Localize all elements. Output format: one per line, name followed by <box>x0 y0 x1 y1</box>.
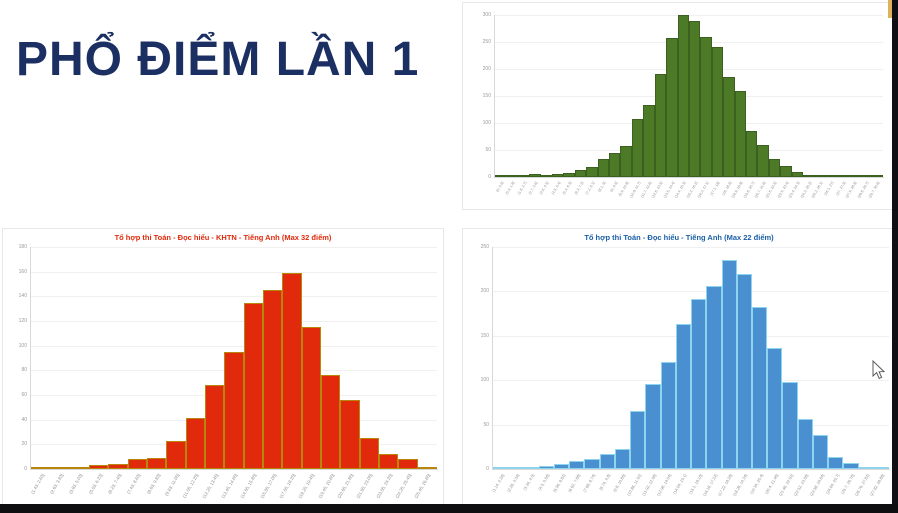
bar[interactable] <box>418 467 437 469</box>
y-axis-tick-label: 150 <box>465 93 491 99</box>
mouse-cursor <box>872 360 886 380</box>
bar[interactable] <box>340 400 359 469</box>
y-axis-tick-label: 100 <box>465 120 491 126</box>
bar[interactable] <box>89 465 108 469</box>
bar[interactable] <box>828 457 843 469</box>
y-axis-tick-label: 80 <box>2 367 27 373</box>
x-axis-line <box>494 177 884 178</box>
bar[interactable] <box>620 146 631 177</box>
bar[interactable] <box>615 449 630 469</box>
y-axis-tick-label: 20 <box>2 441 27 447</box>
bar[interactable] <box>722 260 737 469</box>
x-axis-line <box>492 469 890 470</box>
bar[interactable] <box>586 167 597 177</box>
screen-edge-highlight <box>888 0 892 18</box>
y-axis-tick-label: 0 <box>463 466 489 472</box>
bar[interactable] <box>746 131 757 177</box>
x-axis-tick-label: (8.63, 9.83] <box>146 473 161 495</box>
y-axis-tick-label: 160 <box>2 269 27 275</box>
bar[interactable] <box>539 466 554 469</box>
x-axis-tick-label: (6.3, 7.2] <box>573 181 584 195</box>
y-axis-tick-label: 100 <box>2 343 27 349</box>
x-axis-tick-label: (0, 0.9] <box>495 181 504 193</box>
bar[interactable] <box>676 324 691 469</box>
bar[interactable] <box>630 411 645 469</box>
bar[interactable] <box>166 441 185 469</box>
x-axis-tick-label: (18, 18.9] <box>721 181 732 196</box>
y-axis-tick-label: 60 <box>2 392 27 398</box>
bar[interactable] <box>689 21 700 177</box>
x-axis-tick-label: (4.5, 5.4] <box>551 181 562 195</box>
x-axis-tick-label: (4.5, 5.56] <box>537 473 550 491</box>
bar[interactable] <box>523 467 538 469</box>
bar[interactable] <box>723 77 734 177</box>
y-axis-tick-label: 150 <box>463 333 489 339</box>
bar[interactable] <box>554 464 569 469</box>
bar[interactable] <box>569 461 584 469</box>
bar[interactable] <box>752 307 767 470</box>
bar[interactable] <box>735 91 746 177</box>
bar[interactable] <box>263 290 282 469</box>
bar[interactable] <box>843 463 858 469</box>
chart-panel-blue[interactable]: Tổ hợp thi Toán - Đọc hiểu - Tiếng Anh (… <box>462 228 896 510</box>
bar[interactable] <box>691 299 706 469</box>
plot-area-green: 050100150200250300(0, 0.9](0.9, 1.8](1.8… <box>495 15 883 177</box>
screen-edge-right <box>892 0 898 513</box>
bar[interactable] <box>609 153 620 177</box>
bar[interactable] <box>645 384 660 469</box>
x-axis-tick-label: (0.9, 1.8] <box>505 181 516 195</box>
bar[interactable] <box>782 382 797 469</box>
bar[interactable] <box>147 458 166 469</box>
bar[interactable] <box>186 418 205 469</box>
x-axis-tick-label: (6.62, 7.68] <box>567 473 581 493</box>
page-title: PHỔ ĐIỂM LẦN 1 <box>16 32 419 87</box>
x-axis-line <box>30 469 438 470</box>
plot-area-red: 020406080100120140160180(1.43, 2.63](2.6… <box>31 247 437 469</box>
bar[interactable] <box>529 174 540 177</box>
bar[interactable] <box>661 362 676 469</box>
x-axis-tick-label: (5.4, 6.3] <box>562 181 573 195</box>
x-axis-tick-label: (3.6, 4.5] <box>539 181 550 195</box>
bar[interactable] <box>360 438 379 469</box>
bar[interactable] <box>706 286 721 469</box>
bar[interactable] <box>813 435 828 469</box>
bar[interactable] <box>860 175 871 177</box>
bar[interactable] <box>598 159 609 177</box>
bar[interactable] <box>737 274 752 469</box>
y-axis-tick-label: 180 <box>2 244 27 250</box>
bar[interactable] <box>803 175 814 177</box>
x-axis-tick-label: (3.34, 4.5] <box>522 473 535 491</box>
x-axis-tick-label: (8.74, 9.8] <box>598 473 611 491</box>
chart-panel-red[interactable]: Tổ hợp thi Toán - Đọc hiểu - KHTN - Tiến… <box>2 228 444 510</box>
bar[interactable] <box>108 464 127 469</box>
x-axis-tick-label: (9.8, 10.86] <box>612 473 626 493</box>
bar[interactable] <box>859 467 874 469</box>
bar[interactable] <box>541 175 552 177</box>
bar[interactable] <box>508 467 523 469</box>
x-axis-tick-label: (1.8, 2.7] <box>516 181 527 195</box>
x-axis-labels: (0, 0.9](0.9, 1.8](1.8, 2.7](2.7, 3.6](3… <box>495 180 883 210</box>
y-axis-tick-label: 0 <box>465 174 491 180</box>
screen-edge-bottom <box>0 504 898 513</box>
bar[interactable] <box>506 175 517 177</box>
y-axis-tick-label: 200 <box>465 66 491 72</box>
x-axis-tick-label: (9.9, 10.8] <box>618 181 630 197</box>
chart-title-blue: Tổ hợp thi Toán - Đọc hiểu - Tiếng Anh (… <box>463 233 895 242</box>
bar[interactable] <box>767 348 782 469</box>
x-axis-tick-label: (9, 9.9] <box>609 181 618 193</box>
y-axis-tick-label: 250 <box>465 39 491 45</box>
bar[interactable] <box>31 467 50 469</box>
x-axis-tick-label: (17.1, 18] <box>710 181 721 196</box>
bar[interactable] <box>826 175 837 177</box>
bar[interactable] <box>584 459 599 469</box>
bar[interactable] <box>495 175 506 177</box>
bar[interactable] <box>678 15 689 177</box>
y-axis-tick-label: 120 <box>2 318 27 324</box>
bar[interactable] <box>655 74 666 177</box>
x-axis-tick-label: (9.83, 11.05] <box>164 473 180 497</box>
bar[interactable] <box>769 159 780 177</box>
bar[interactable] <box>632 119 643 177</box>
bar[interactable] <box>379 454 398 469</box>
x-axis-tick-label: (5.03, 6.23] <box>88 473 103 495</box>
y-axis-tick-label: 140 <box>2 293 27 299</box>
bar[interactable] <box>50 467 69 469</box>
plot-area-blue: 050100150200250(1.14, 2.28](2.28, 3.34](… <box>493 247 889 469</box>
x-axis-tick-label: (7.43, 8.63] <box>126 473 141 495</box>
y-axis-tick-label: 50 <box>463 422 489 428</box>
x-axis-tick-label: (2.28, 3.34] <box>506 473 520 493</box>
y-axis-tick-label: 250 <box>463 244 489 250</box>
x-axis-tick-label: (1.14, 2.28] <box>490 473 504 493</box>
y-axis-tick-label: 300 <box>465 12 491 18</box>
x-axis-tick-label: (8.1, 9] <box>598 181 607 193</box>
bar[interactable] <box>563 173 574 177</box>
x-axis-tick-label: (27, 27.9] <box>835 181 846 196</box>
x-axis-tick-label: (26.1, 27] <box>824 181 835 196</box>
bar[interactable] <box>244 303 263 470</box>
bar[interactable] <box>700 37 711 177</box>
x-axis-tick-label: (6.23, 7.43] <box>107 473 122 495</box>
bar[interactable] <box>493 467 508 469</box>
bar[interactable] <box>837 175 848 177</box>
bar[interactable] <box>128 459 147 469</box>
x-axis-tick-label: (3.83, 5.03] <box>68 473 83 495</box>
x-axis-tick-label: (2.63, 3.83] <box>49 473 64 495</box>
y-axis-tick-label: 100 <box>463 377 489 383</box>
bar[interactable] <box>871 175 882 177</box>
chart-title-red: Tổ hợp thi Toán - Đọc hiểu - KHTN - Tiến… <box>3 233 443 242</box>
y-axis-tick-label: 200 <box>463 288 489 294</box>
bar[interactable] <box>282 273 301 469</box>
bar[interactable] <box>643 105 654 177</box>
x-axis-tick-label: (2.7, 3.6] <box>528 181 539 195</box>
bar[interactable] <box>666 38 677 177</box>
bar-series <box>495 15 883 177</box>
bar-series <box>31 247 437 469</box>
bar[interactable] <box>552 174 563 177</box>
x-axis-tick-label: (1.43, 2.63] <box>30 473 45 495</box>
y-axis-tick-label: 40 <box>2 417 27 423</box>
slide-canvas: PHỔ ĐIỂM LẦN 1 050100150200250300(0, 0.9… <box>0 0 898 513</box>
bar[interactable] <box>398 459 417 469</box>
bar[interactable] <box>302 327 321 469</box>
x-axis-tick-label: (5.56, 6.62] <box>551 473 565 493</box>
bar[interactable] <box>712 47 723 177</box>
chart-panel-green[interactable]: 050100150200250300(0, 0.9](0.9, 1.8](1.8… <box>462 2 896 210</box>
bar[interactable] <box>518 175 529 177</box>
bar[interactable] <box>224 352 243 469</box>
x-axis-tick-label: (7.68, 8.74] <box>582 473 596 493</box>
x-axis-tick-label: (7.2, 8.1] <box>585 181 596 195</box>
bar[interactable] <box>600 454 615 469</box>
bar[interactable] <box>814 175 825 177</box>
bar[interactable] <box>780 166 791 177</box>
y-axis-tick-label: 0 <box>2 466 27 472</box>
bar[interactable] <box>205 385 224 469</box>
bar[interactable] <box>321 375 340 469</box>
bar[interactable] <box>575 170 586 177</box>
bar[interactable] <box>70 467 89 469</box>
bar[interactable] <box>757 145 768 177</box>
y-axis-tick-label: 50 <box>465 147 491 153</box>
bar[interactable] <box>798 419 813 469</box>
bar[interactable] <box>849 175 860 177</box>
bar[interactable] <box>874 467 889 469</box>
bar[interactable] <box>792 172 803 177</box>
bar-series <box>493 247 889 469</box>
